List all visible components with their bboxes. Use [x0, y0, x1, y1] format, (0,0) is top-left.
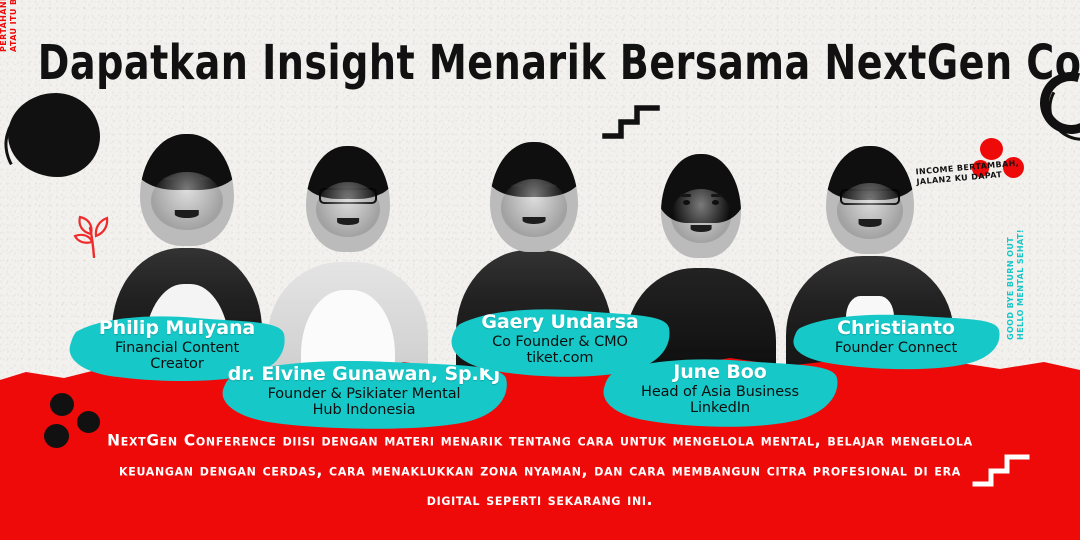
page-title: Dapatkan Insight Menarik Bersama NextGen… [38, 34, 1042, 91]
speaker-role-line1: Founder & Psikiater Mental [218, 386, 510, 403]
speaker-label-christianto: Christianto Founder Connect [790, 312, 1002, 370]
speaker-role-line1: Co Founder & CMO [448, 334, 672, 351]
speaker-role-line1: Founder Connect [790, 340, 1002, 357]
conference-banner: Pertahankan Zona Aman Atau Itu Bloom! In… [0, 0, 1080, 540]
speaker-name: Christianto [790, 318, 1002, 340]
speaker-role-line2: LinkedIn [600, 400, 840, 417]
speaker-role-line2: Hub Indonesia [218, 402, 510, 419]
speaker-name: Philip Mulyana [66, 318, 288, 340]
speaker-role-line1: Financial Content [66, 340, 288, 357]
speaker-photo-elvine-gunawan [268, 142, 428, 382]
body-paragraph: NextGen Conference diisi dengan materi m… [90, 425, 990, 514]
speaker-name: Gaery Undarsa [448, 312, 672, 334]
speaker-role-line1: Head of Asia Business [600, 384, 840, 401]
